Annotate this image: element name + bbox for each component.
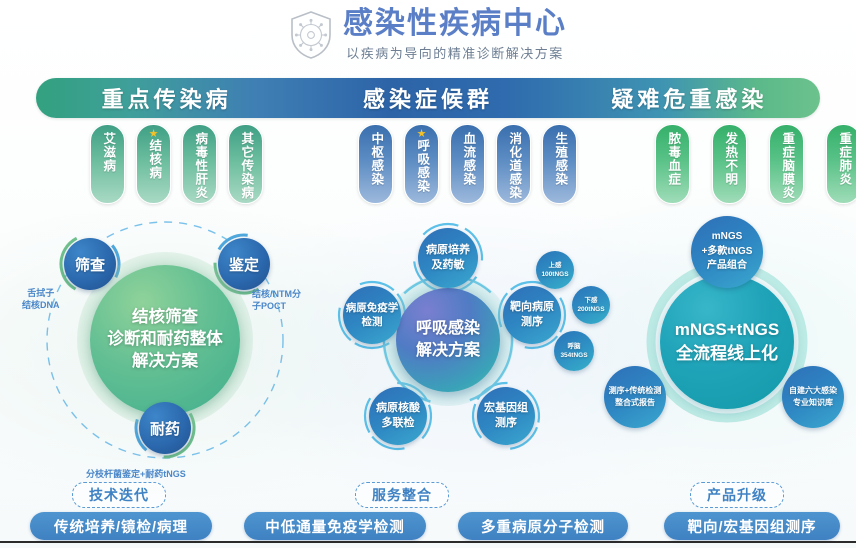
left-core-line1: 结核筛查: [132, 307, 198, 329]
node-mngs-tngs-portfolio-line2: +多款tNGS: [702, 245, 753, 260]
right-core-line1: mNGS+tNGS: [675, 318, 779, 342]
node-upper-tract-line1: 上感: [549, 261, 562, 270]
pill-respiratory-infection[interactable]: ★ 呼吸感染: [404, 124, 439, 204]
page-title: 感染性疾病中心: [343, 8, 567, 40]
section-band-titles: 重点传染病 感染症候群 疑难危重感染: [36, 78, 820, 118]
pill-severe-meningitis[interactable]: 重症脑膜炎: [769, 124, 804, 204]
caption-identification-line1: 结核/NTM分: [252, 288, 301, 300]
left-core-line3: 解决方案: [132, 351, 198, 373]
node-lower-tract-line2: 200tNGS: [577, 305, 604, 314]
node-nucleic-acid-panel-line1: 病原核酸: [376, 401, 420, 416]
node-resp-cns-354tngs[interactable]: 呼脑 354tNGS: [554, 331, 594, 371]
node-metagenomic-sequencing-line2: 测序: [495, 416, 517, 431]
bottom-divider: [0, 541, 856, 543]
footer-pill-sequencing[interactable]: 靶向/宏基因组测序: [664, 512, 840, 540]
node-lower-tract-200tngs[interactable]: 下感 200tNGS: [572, 286, 610, 324]
node-screening-label: 筛查: [75, 254, 105, 275]
node-targeted-sequencing[interactable]: 靶向病原 测序: [503, 286, 561, 344]
node-upper-tract-100tngs[interactable]: 上感 100tNGS: [536, 251, 574, 289]
pill-viral-hepatitis[interactable]: 病毒性肝炎: [182, 124, 217, 204]
caption-screening: 舌拭子 结核DNA: [22, 287, 60, 311]
pill-cns-infection[interactable]: 中枢感染: [358, 124, 393, 204]
pill-aids[interactable]: 艾滋病: [90, 124, 125, 204]
pill-group-syndromes: 中枢感染 ★ 呼吸感染 血流感染 消化道感染 生殖感染: [358, 124, 577, 204]
node-integrated-report-line2: 整合式报告: [615, 397, 655, 409]
node-pathogen-culture[interactable]: 病原培养 及药敏: [418, 228, 478, 288]
node-pathogen-immunology-line2: 检测: [362, 315, 383, 329]
pill-group-key-infectious: 艾滋病 ★ 结核病 病毒性肝炎 其它传染病: [90, 124, 263, 204]
pill-label: 重症肺炎: [837, 125, 851, 186]
right-core-circle[interactable]: mNGS+tNGS 全流程线上化: [660, 275, 794, 409]
page-subtitle: 以疾病为导向的精准诊断解决方案: [346, 43, 564, 62]
tag-service-integration[interactable]: 服务整合: [355, 482, 449, 508]
footer-pill-traditional[interactable]: 传统培养/镜检/病理: [30, 512, 212, 540]
star-icon: ★: [417, 129, 427, 140]
pill-bloodstream-infection[interactable]: 血流感染: [450, 124, 485, 204]
pill-sepsis[interactable]: 脓毒血症: [655, 124, 690, 204]
mid-core-circle[interactable]: 呼吸感染 解决方案: [396, 288, 500, 392]
node-drug-resistance-label: 耐药: [150, 418, 180, 439]
pill-group-critical: 脓毒血症 发热不明 重症脑膜炎 重症肺炎: [655, 124, 856, 204]
node-integrated-report[interactable]: 测序+传统检测 整合式报告: [604, 366, 666, 428]
pill-label: 艾滋病: [101, 125, 115, 173]
page-header: 感染性疾病中心 以疾病为导向的精准诊断解决方案: [0, 4, 856, 66]
tag-product-upgrade[interactable]: 产品升级: [690, 482, 784, 508]
pill-fever-unknown[interactable]: 发热不明: [712, 124, 747, 204]
caption-identification: 结核/NTM分 子POCT: [252, 288, 301, 312]
node-metagenomic-sequencing[interactable]: 宏基因组 测序: [477, 387, 535, 445]
pill-label: 病毒性肝炎: [193, 125, 207, 200]
infographic-canvas: 感染性疾病中心 以疾病为导向的精准诊断解决方案 重点传染病 感染症候群 疑难危重…: [0, 0, 856, 548]
node-resp-cns-line1: 呼脑: [568, 342, 581, 351]
node-upper-tract-line2: 100tNGS: [541, 270, 568, 279]
caption-screening-line2: 结核DNA: [22, 299, 60, 311]
node-pathogen-immunology-line1: 病原免疫学: [346, 301, 399, 315]
node-mngs-tngs-portfolio-line1: mNGS: [712, 230, 743, 245]
pill-reproductive-infection[interactable]: 生殖感染: [542, 124, 577, 204]
caption-drug-resistance-line1: 分枝杆菌鉴定+耐药tNGS: [86, 468, 186, 480]
node-nucleic-acid-panel-line2: 多联检: [382, 416, 415, 431]
pill-label: 生殖感染: [553, 125, 567, 186]
node-knowledge-base-line1: 自建六大感染: [789, 385, 837, 397]
section-title-critical: 疑难危重感染: [559, 78, 820, 118]
node-resp-cns-line2: 354tNGS: [560, 351, 587, 360]
pill-label: 消化道感染: [507, 125, 521, 200]
section-title-syndromes: 感染症候群: [297, 78, 558, 118]
pill-gi-infection[interactable]: 消化道感染: [496, 124, 531, 204]
node-targeted-sequencing-line2: 测序: [521, 315, 543, 330]
left-core-line2: 诊断和耐药整体: [107, 329, 223, 351]
right-core-line2: 全流程线上化: [676, 342, 778, 366]
node-knowledge-base[interactable]: 自建六大感染 专业知识库: [782, 366, 844, 428]
pill-tuberculosis[interactable]: ★ 结核病: [136, 124, 171, 204]
section-title-key-infectious: 重点传染病: [36, 78, 297, 118]
pill-other-infectious[interactable]: 其它传染病: [228, 124, 263, 204]
pill-label: 重症脑膜炎: [780, 125, 794, 200]
node-screening[interactable]: 筛查: [64, 238, 116, 290]
node-integrated-report-line1: 测序+传统检测: [609, 385, 662, 397]
node-mngs-tngs-portfolio-line3: 产品组合: [707, 259, 747, 274]
pill-label: 其它传染病: [239, 125, 253, 200]
node-identification[interactable]: 鉴定: [218, 238, 270, 290]
node-pathogen-immunology[interactable]: 病原免疫学 检测: [343, 286, 401, 344]
node-mngs-tngs-portfolio[interactable]: mNGS +多款tNGS 产品组合: [691, 216, 763, 288]
node-knowledge-base-line2: 专业知识库: [793, 397, 833, 409]
shield-virus-icon: [289, 10, 333, 60]
node-pathogen-culture-line2: 及药敏: [432, 258, 465, 273]
mid-core-line2: 解决方案: [416, 340, 480, 362]
footer-pill-immunoassay[interactable]: 中低通量免疫学检测: [244, 512, 426, 540]
node-targeted-sequencing-line1: 靶向病原: [510, 300, 554, 315]
pill-label: 脓毒血症: [666, 125, 680, 186]
left-core-circle[interactable]: 结核筛查 诊断和耐药整体 解决方案: [90, 265, 240, 415]
node-metagenomic-sequencing-line1: 宏基因组: [484, 401, 528, 416]
footer-pill-multiplex[interactable]: 多重病原分子检测: [458, 512, 628, 540]
node-lower-tract-line1: 下感: [585, 296, 598, 305]
mid-core-line1: 呼吸感染: [416, 318, 480, 340]
caption-drug-resistance: 分枝杆菌鉴定+耐药tNGS: [86, 468, 186, 480]
tag-tech-iteration[interactable]: 技术迭代: [72, 482, 166, 508]
caption-screening-line1: 舌拭子: [22, 287, 60, 299]
pill-label: 中枢感染: [369, 125, 383, 186]
node-nucleic-acid-panel[interactable]: 病原核酸 多联检: [369, 387, 427, 445]
node-pathogen-culture-line1: 病原培养: [426, 243, 470, 258]
pill-severe-pneumonia[interactable]: 重症肺炎: [826, 124, 856, 204]
caption-identification-line2: 子POCT: [252, 300, 301, 312]
pill-label: 血流感染: [461, 125, 475, 186]
star-icon: ★: [149, 129, 159, 140]
node-identification-label: 鉴定: [229, 254, 259, 275]
pill-label: 发热不明: [723, 125, 737, 186]
node-drug-resistance[interactable]: 耐药: [139, 402, 191, 454]
